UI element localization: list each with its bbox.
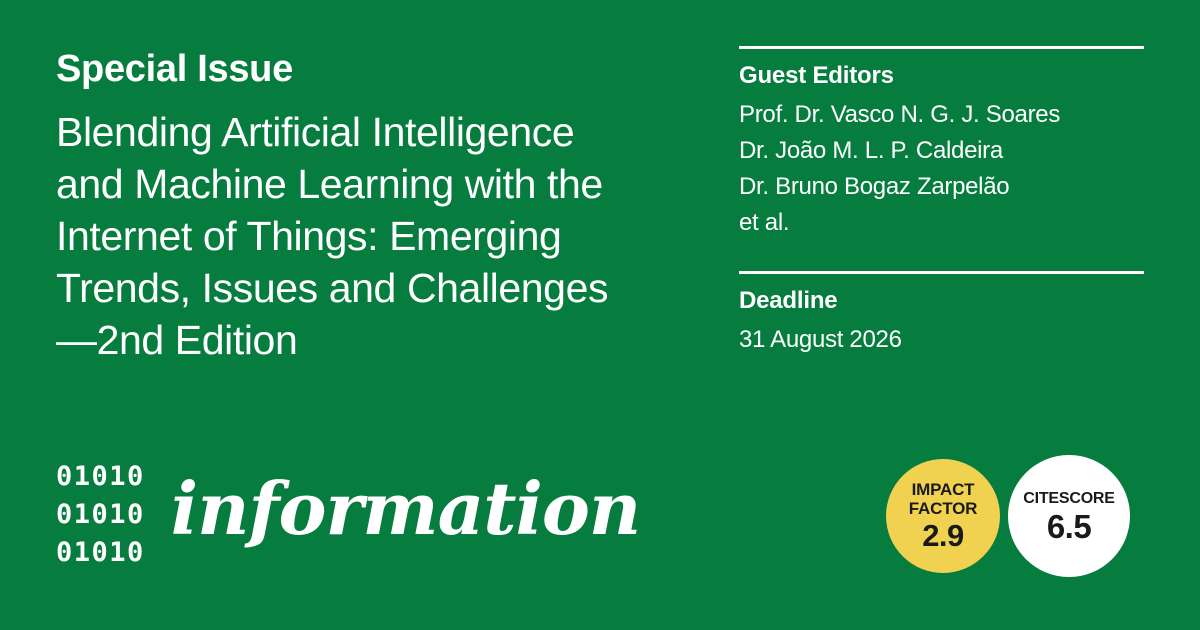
guest-editor-name: Dr. Bruno Bogaz Zarpelão — [739, 169, 1144, 205]
left-column: Special Issue Blending Artificial Intell… — [56, 46, 696, 366]
binary-row: 01010 — [56, 534, 145, 572]
journal-wordmark: information — [171, 473, 640, 551]
deadline-heading: Deadline — [739, 286, 1144, 316]
impact-factor-label-line-2: FACTOR — [909, 499, 977, 518]
special-issue-kicker: Special Issue — [56, 46, 696, 92]
deadline-date: 31 August 2026 — [739, 322, 1144, 358]
citescore-label: CITESCORE — [1023, 489, 1115, 508]
guest-editors-block: Guest Editors Prof. Dr. Vasco N. G. J. S… — [739, 46, 1144, 241]
journal-logo: 01010 01010 01010 information — [56, 452, 640, 572]
impact-factor-badge: IMPACT FACTOR 2.9 — [886, 459, 1000, 573]
citescore-value: 6.5 — [1047, 510, 1091, 543]
binary-digits-icon: 01010 01010 01010 — [56, 452, 145, 572]
guest-editors-heading: Guest Editors — [739, 61, 1144, 91]
title-line-3: Internet of Things: Emerging — [56, 213, 561, 259]
title-line-2: and Machine Learning with the — [56, 161, 603, 207]
impact-factor-label-line-1: IMPACT — [912, 480, 975, 499]
divider-rule-deadline — [739, 271, 1144, 274]
divider-rule-editors — [739, 46, 1144, 49]
title-line-4: Trends, Issues and Challenges — [56, 265, 608, 311]
deadline-block: Deadline 31 August 2026 — [739, 271, 1144, 358]
special-issue-poster: Special Issue Blending Artificial Intell… — [0, 0, 1200, 630]
metrics-badges: IMPACT FACTOR 2.9 CITESCORE 6.5 — [886, 455, 1130, 577]
binary-row: 01010 — [56, 496, 145, 534]
guest-editors-et-al: et al. — [739, 205, 1144, 241]
guest-editor-name: Prof. Dr. Vasco N. G. J. Soares — [739, 97, 1144, 133]
right-column: Guest Editors Prof. Dr. Vasco N. G. J. S… — [739, 46, 1144, 358]
page-title: Blending Artificial Intelligence and Mac… — [56, 106, 696, 366]
binary-row: 01010 — [56, 458, 145, 496]
title-line-5: —2nd Edition — [56, 317, 297, 363]
title-line-1: Blending Artificial Intelligence — [56, 109, 574, 155]
impact-factor-value: 2.9 — [922, 519, 964, 552]
citescore-badge: CITESCORE 6.5 — [1008, 455, 1130, 577]
guest-editor-name: Dr. João M. L. P. Caldeira — [739, 133, 1144, 169]
